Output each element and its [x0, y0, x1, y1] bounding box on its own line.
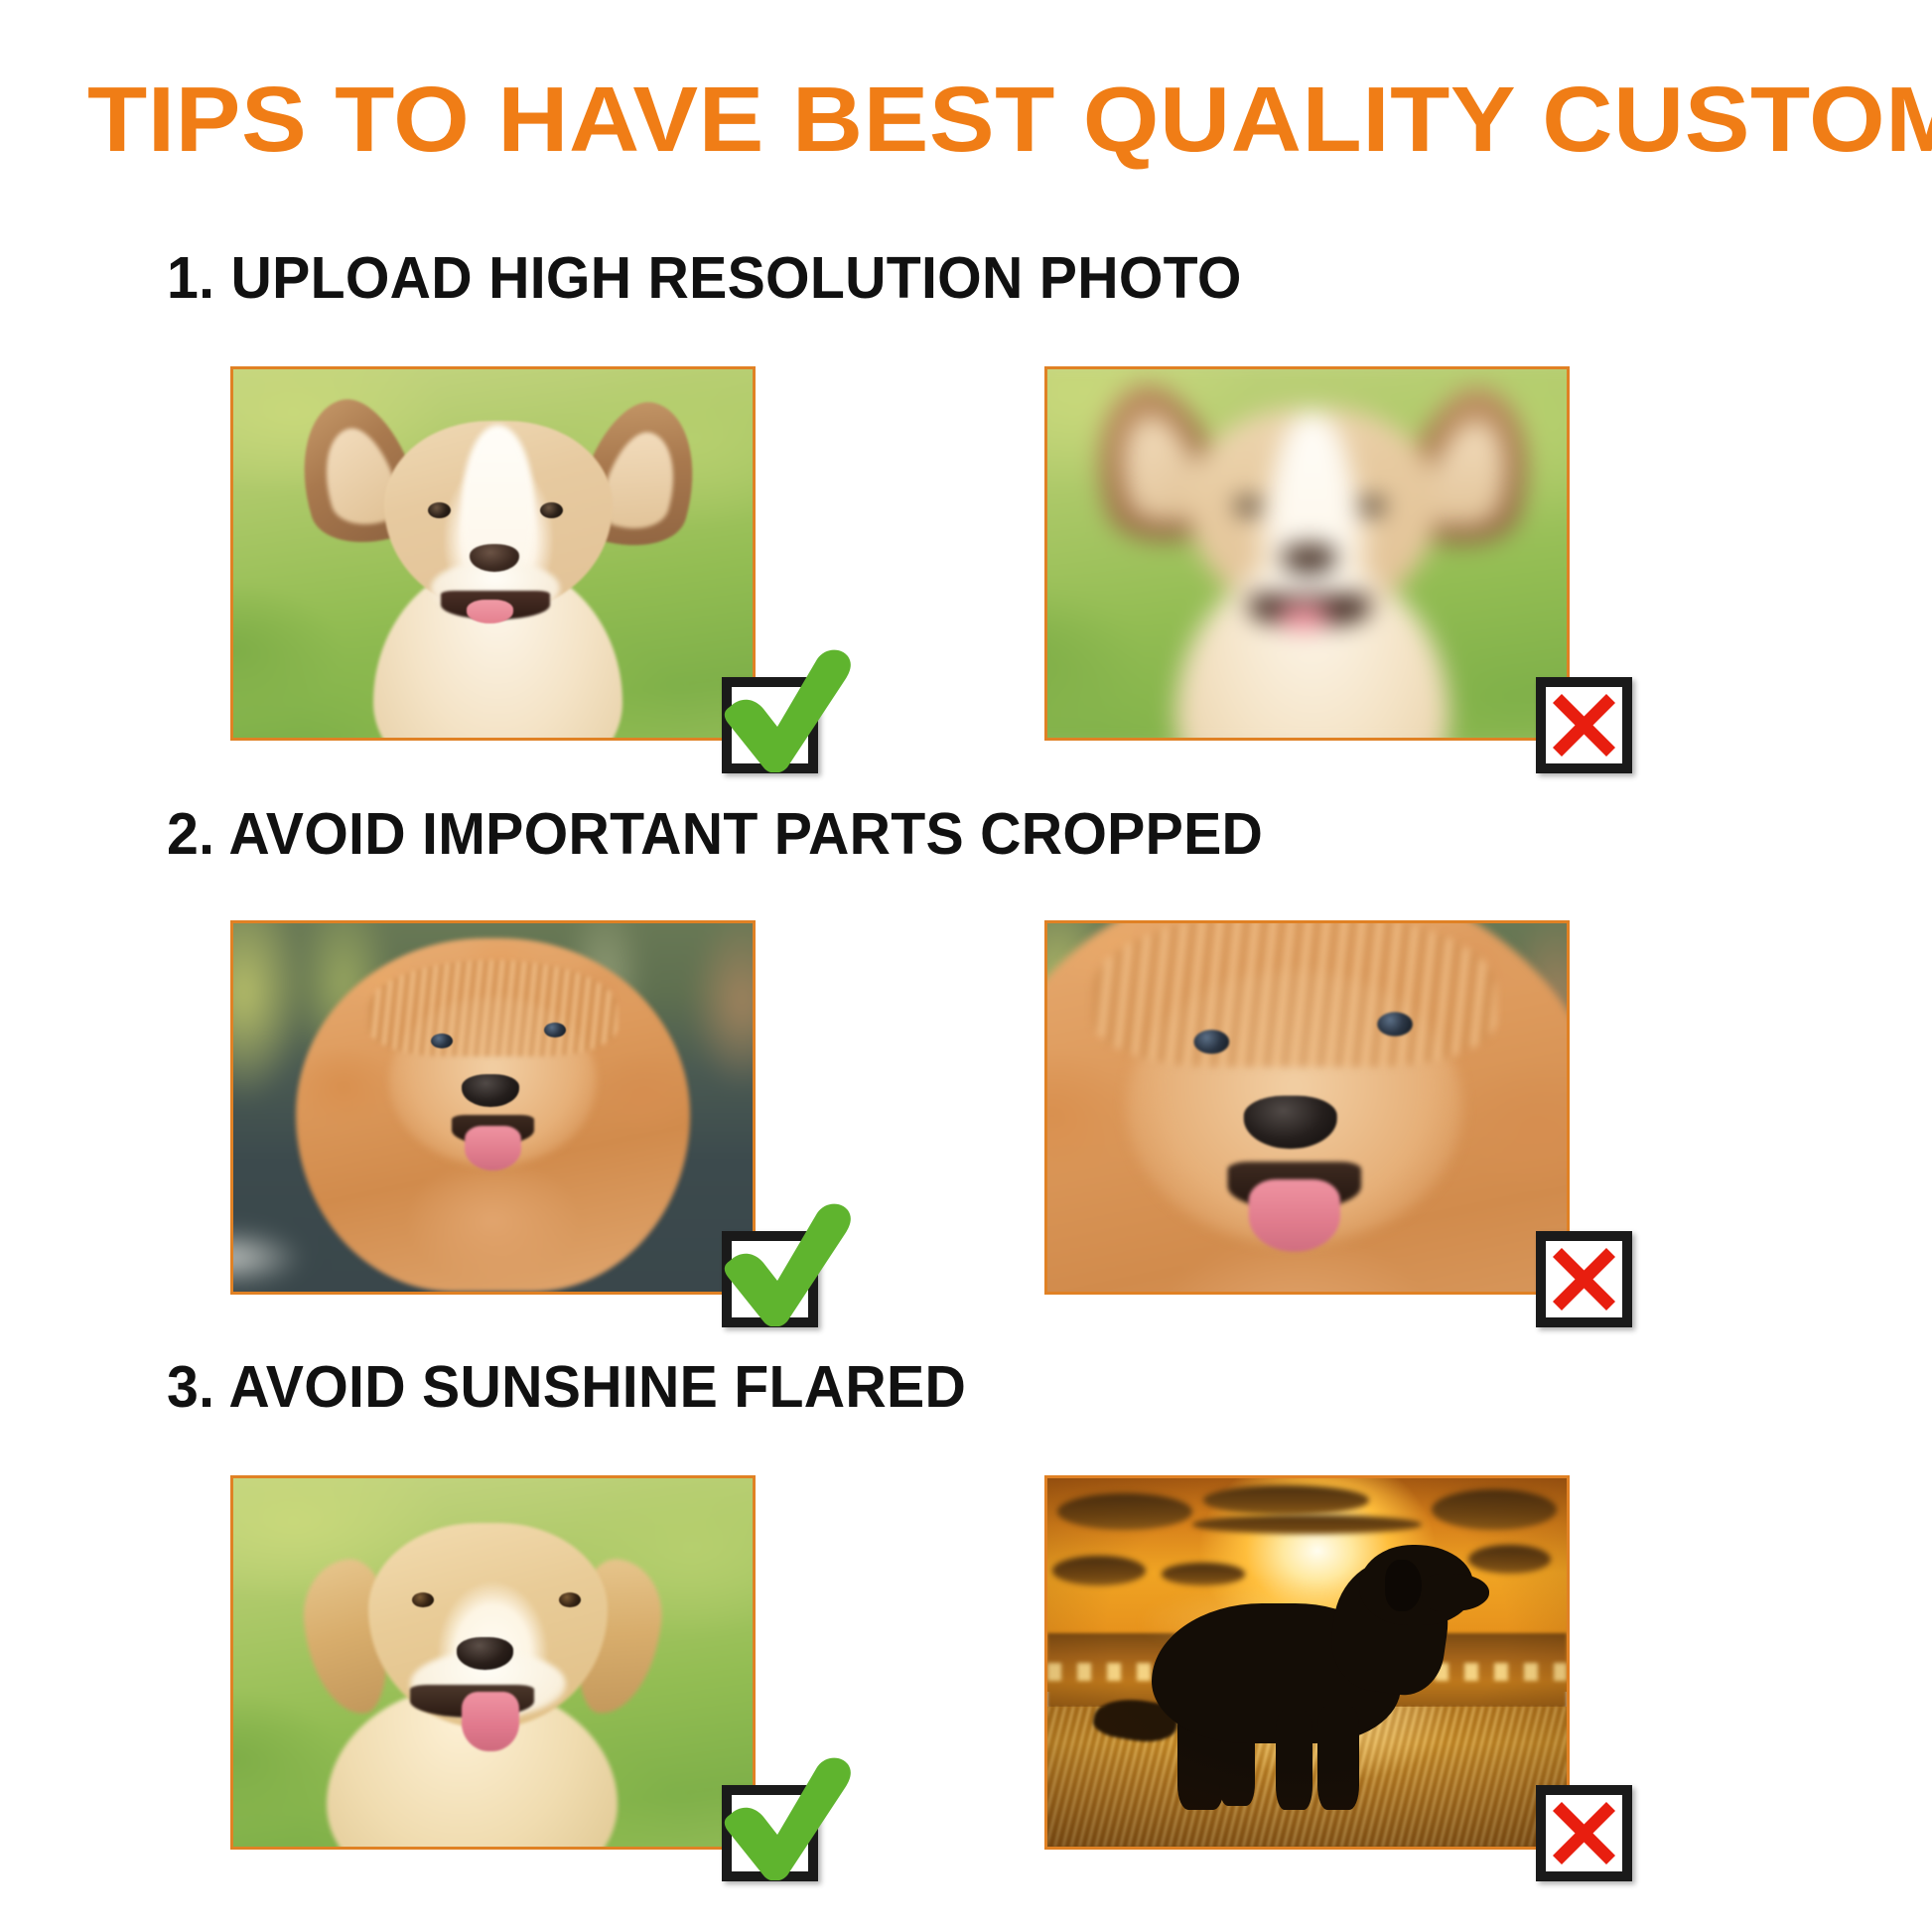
photo-bad-2-content	[1047, 923, 1567, 1292]
infographic-page: TIPS TO HAVE BEST QUALITY CUSTOM PRODUCT…	[0, 0, 1932, 1932]
bad-badge-1	[1536, 677, 1632, 773]
sunset-silhouette-illustration	[1047, 1478, 1567, 1847]
photo-bad-2	[1044, 920, 1570, 1295]
cross-icon	[1548, 1243, 1620, 1315]
good-badge-2	[722, 1231, 818, 1327]
corgi-illustration-blurred	[1044, 366, 1570, 741]
photo-good-2-content	[233, 923, 753, 1292]
cross-icon	[1548, 689, 1620, 761]
photo-good-1-content	[233, 369, 753, 738]
good-badge-3	[722, 1785, 818, 1881]
photo-bad-1-content	[1044, 366, 1570, 741]
photo-good-2	[230, 920, 756, 1295]
page-title: TIPS TO HAVE BEST QUALITY CUSTOM PRODUCT…	[87, 73, 1932, 165]
photo-bad-3	[1044, 1475, 1570, 1850]
section-heading-3: 3. AVOID SUNSHINE FLARED	[167, 1357, 966, 1417]
photo-bad-3-content	[1047, 1478, 1567, 1847]
corgi-illustration	[233, 369, 753, 738]
section-heading-2: 2. AVOID IMPORTANT PARTS CROPPED	[167, 804, 1263, 864]
bad-badge-2	[1536, 1231, 1632, 1327]
photo-good-1	[230, 366, 756, 741]
photo-bad-1	[1044, 366, 1570, 741]
golden-retriever-illustration	[233, 1478, 753, 1847]
good-badge-1	[722, 677, 818, 773]
section-heading-1: 1. UPLOAD HIGH RESOLUTION PHOTO	[167, 248, 1242, 308]
cavapoo-illustration-cropped	[1047, 923, 1567, 1292]
photo-good-3	[230, 1475, 756, 1850]
bad-badge-3	[1536, 1785, 1632, 1881]
cross-icon	[1548, 1797, 1620, 1869]
cavapoo-illustration	[233, 923, 753, 1292]
photo-good-3-content	[233, 1478, 753, 1847]
